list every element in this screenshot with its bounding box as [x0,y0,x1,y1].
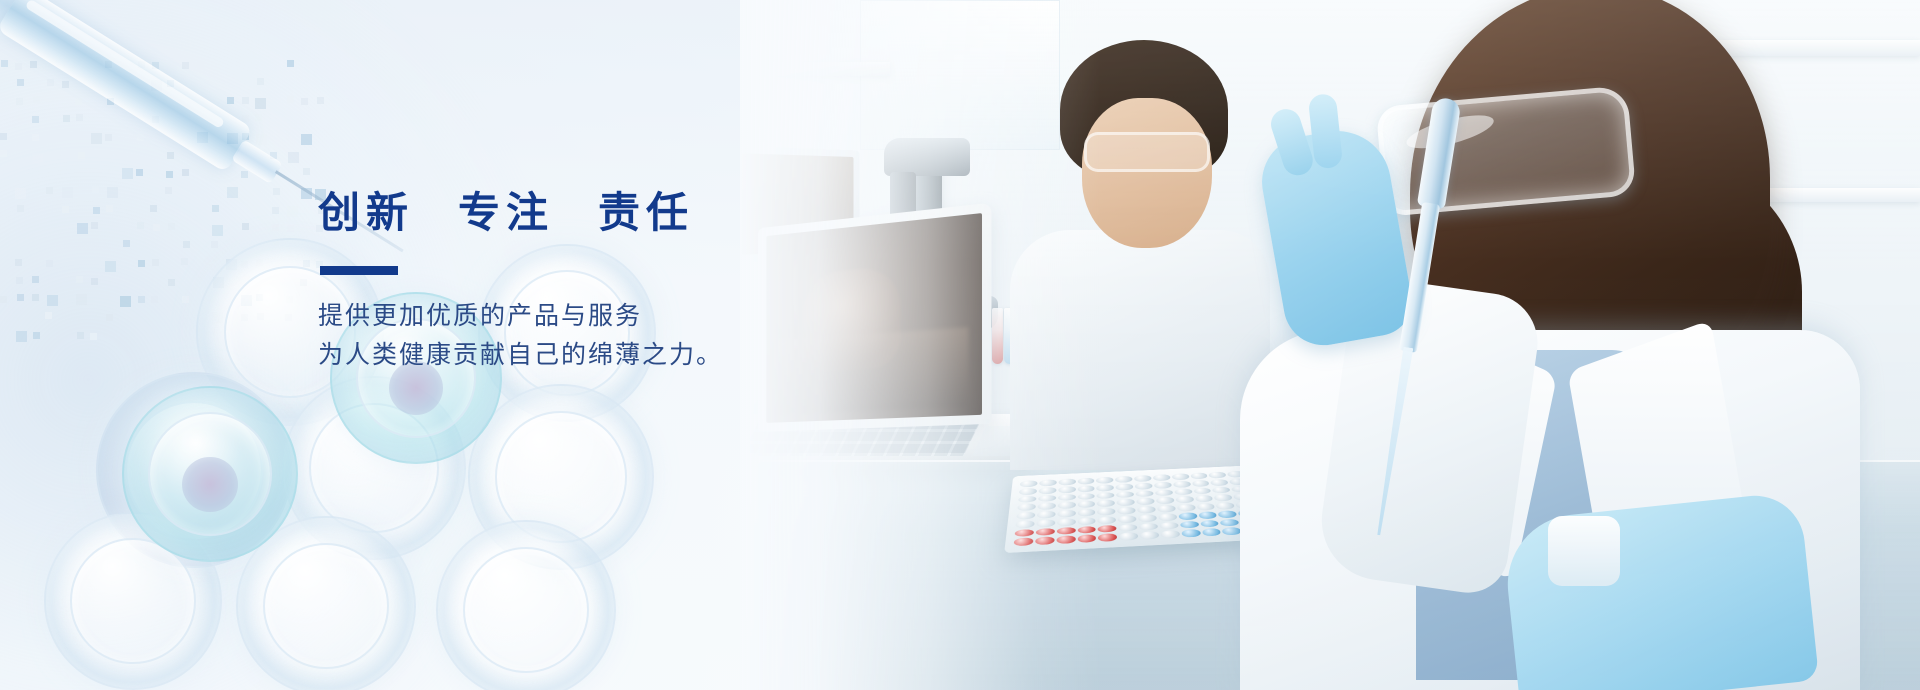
microplate-well [1098,516,1117,524]
microplate-well [1174,488,1192,495]
headline: 创新 专注 责任 [318,192,723,234]
photo-left-fade [740,0,1100,690]
microplate-well [1178,512,1197,520]
microplate-well [1098,533,1117,541]
microplate-well [1154,481,1172,488]
microplate-well [1171,473,1189,480]
microplate-well [1117,499,1135,507]
microplate-well [1158,513,1177,521]
microplate-well [1198,511,1217,519]
bg-safety-glasses [1084,132,1210,172]
headline-word-2: 专注 [458,192,554,234]
microplate-well [1117,507,1136,515]
microplate-well [1115,476,1133,483]
microplate-well [1177,504,1196,512]
female-scientist-foreground [1220,0,1920,690]
microplate-well [1139,523,1158,531]
microplate-well [1159,522,1178,530]
headline-word-3: 责任 [598,192,694,234]
microplate-well [1190,472,1208,479]
subtitle: 提供更加优质的产品与服务 为人类健康贡献自己的绵薄之力。 [318,297,723,375]
microplate-well [1156,497,1175,504]
hero-banner: 创新 专注 责任 提供更加优质的产品与服务 为人类健康贡献自己的绵薄之力。 [0,0,1920,690]
microplate-well [1098,525,1117,533]
microplate-well [1140,531,1160,539]
microplate-well [1201,528,1221,536]
laboratory-photo [740,0,1920,690]
hero-text-block: 创新 专注 责任 提供更加优质的产品与服务 为人类健康贡献自己的绵薄之力。 [318,192,723,375]
held-tube [1548,516,1620,586]
subtitle-line-1: 提供更加优质的产品与服务 [318,297,723,336]
bg-face [1082,98,1212,248]
microplate-well [1135,482,1153,489]
headline-divider [320,266,398,275]
microplate-well [1118,515,1137,523]
microplate-well [1196,503,1215,511]
microplate-well [1116,491,1134,498]
microplate-well [1193,487,1212,494]
microplate-well [1173,481,1191,488]
subtitle-line-2: 为人类健康贡献自己的绵薄之力。 [318,336,723,375]
microplate-well [1200,519,1220,527]
microplate-well [1157,505,1176,513]
microplate-well [1134,475,1152,482]
microplate-well [1191,480,1209,487]
microplate-well [1155,489,1173,496]
microplate-well [1181,529,1201,537]
microplate-well [1160,530,1180,538]
microplate-well [1138,514,1157,522]
microplate-well [1137,506,1156,514]
microplate-well [1175,496,1194,503]
microplate-well [1116,483,1134,490]
microplate-well [1119,532,1138,540]
microplate-well [1097,508,1115,516]
microplate-well [1179,520,1199,528]
headline-word-1: 创新 [318,192,414,234]
petri-dish [436,520,616,690]
blue-glove-lower [1501,491,1819,690]
microplate-well [1118,524,1137,532]
microplate-well [1136,498,1154,506]
microplate-well [1135,490,1153,497]
microplate-well [1195,495,1214,502]
petri-dish [122,386,298,562]
microplate-well [1153,474,1171,481]
